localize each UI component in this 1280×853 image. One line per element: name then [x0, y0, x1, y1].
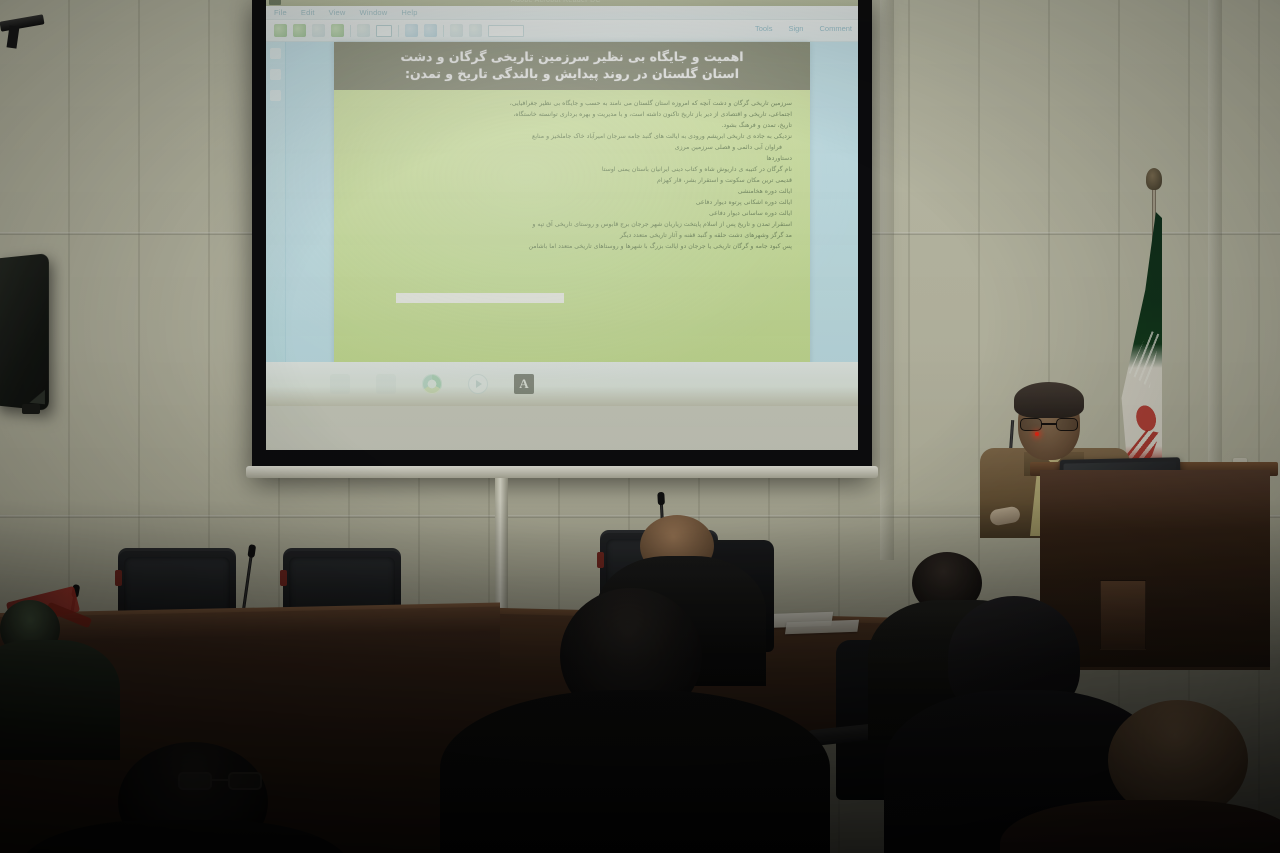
glasses-lens-right [228, 772, 262, 790]
acrobat-document-area[interactable]: اهمیت و جایگاه بی نظیر سرزمین تاریخی گرگ… [286, 42, 858, 406]
desktop-taskbar[interactable] [266, 362, 858, 406]
attachments-icon[interactable] [270, 90, 281, 101]
slide-body-line: فراوان آبی دائمی و فصلی سرزمین مرزی [348, 143, 792, 153]
slide-body-line: ایالت دوره هخامنشی [348, 187, 792, 197]
comment-button[interactable]: Comment [819, 24, 852, 33]
projection-screen-surface: Adobe Acrobat Reader DC File Edit View W… [266, 0, 858, 450]
acrobat-window[interactable]: Adobe Acrobat Reader DC File Edit View W… [266, 0, 858, 406]
audience-member-body [440, 690, 830, 853]
slide-body-line: اجتماعی، تاریخی و اقتصادی از دیر باز تار… [348, 110, 792, 120]
projection-screen-stand-pole [495, 478, 508, 618]
acrobat-body: اهمیت و جایگاه بی نظیر سرزمین تاریخی گرگ… [266, 42, 858, 406]
slide-body-line: ایالت دوره ساسانی دیوار دفاعی [348, 209, 792, 219]
menu-item-file[interactable]: File [274, 8, 287, 17]
slide-body-line: دستاوردها [348, 154, 792, 164]
toolbar-divider [350, 25, 351, 37]
print-icon[interactable] [357, 24, 370, 37]
toolbar-divider-2 [398, 25, 399, 37]
previous-page-icon[interactable] [405, 24, 418, 37]
start-button-icon[interactable] [330, 374, 350, 394]
slide-body-line: نزدیکی به جاده ی تاریخی ابریشم ورودی به … [348, 132, 792, 142]
acrobat-titlebar: Adobe Acrobat Reader DC [266, 0, 858, 6]
media-player-icon[interactable] [468, 374, 488, 394]
eyeglasses-icon [178, 772, 262, 790]
pdf-page: اهمیت و جایگاه بی نظیر سرزمین تاریخی گرگ… [334, 42, 810, 394]
acrobat-right-panel-buttons[interactable]: Tools Sign Comment [755, 24, 852, 33]
glasses-bridge [212, 779, 228, 781]
slide-body-line: قدیمی ترین مکان سکونت و استقرار بشر، قار… [348, 176, 792, 186]
acrobat-menubar[interactable]: File Edit View Window Help [266, 6, 858, 20]
chair-tab [597, 552, 604, 568]
create-pdf-icon[interactable] [293, 24, 306, 37]
slide-body-block: سرزمین تاریخی گرگان و دشت آنچه که امروزه… [334, 90, 810, 390]
audience-member-body [0, 640, 120, 760]
menu-item-window[interactable]: Window [360, 8, 388, 17]
chair-tab [115, 570, 122, 586]
slide-title-line-1: اهمیت و جایگاه بی نظیر سرزمین تاریخی گرگ… [350, 48, 794, 65]
explorer-icon[interactable] [376, 374, 396, 394]
menu-item-edit[interactable]: Edit [301, 8, 315, 17]
slide-body-line: سرزمین تاریخی گرگان و دشت آنچه که امروزه… [348, 99, 792, 109]
slide-title-line-2: استان گلستان در روند پیدایش و بالندگی تا… [350, 65, 794, 82]
presenter-hair [1014, 382, 1084, 418]
chrome-icon[interactable] [422, 374, 442, 394]
page-fit-icon[interactable] [376, 25, 392, 37]
next-page-icon[interactable] [424, 24, 437, 37]
sign-button[interactable]: Sign [788, 24, 803, 33]
glasses-bridge [1042, 423, 1056, 425]
acrobat-app-icon [269, 0, 281, 5]
podium-front-panel [1100, 580, 1146, 650]
page-thumbnails-icon[interactable] [270, 48, 281, 59]
slide-body-line: تاریخ، تمدن و فرهنگ بشود. [348, 121, 792, 131]
glasses-lens-right [1056, 418, 1078, 431]
eyeglasses-icon [1020, 418, 1078, 431]
zoom-level-field[interactable] [488, 25, 524, 37]
slide-body-line: ایالت دوره اشکانی پرتوه دیوار دفاعی [348, 198, 792, 208]
menu-item-view[interactable]: View [329, 8, 346, 17]
tools-button[interactable]: Tools [755, 24, 773, 33]
acrobat-toolbar[interactable]: Tools Sign Comment [266, 20, 858, 42]
glasses-lens-left [1020, 418, 1042, 431]
wall-speaker-mount [22, 404, 40, 414]
acrobat-window-title: Adobe Acrobat Reader DC [511, 0, 601, 4]
flag-finial-icon [1146, 168, 1162, 190]
slide-body-line: پس کبود جامه و گرگان تاریخی یا جرجان دو … [348, 242, 792, 252]
menu-item-help[interactable]: Help [401, 8, 417, 17]
zoom-in-icon[interactable] [469, 24, 482, 37]
bookmarks-icon[interactable] [270, 69, 281, 80]
adobe-acrobat-icon[interactable] [514, 374, 534, 394]
projection-screen-roller-bar [246, 466, 878, 478]
glasses-lens-left [178, 772, 212, 790]
text-selection-highlight [396, 293, 564, 303]
zoom-out-icon[interactable] [450, 24, 463, 37]
chair-tab [280, 570, 287, 586]
paper-sheet [785, 620, 859, 635]
slide-title-block: اهمیت و جایگاه بی نظیر سرزمین تاریخی گرگ… [334, 42, 810, 90]
microphone-led-indicator [1035, 432, 1039, 436]
email-icon[interactable] [331, 24, 344, 37]
save-icon[interactable] [312, 24, 325, 37]
conference-hall-scene: Adobe Acrobat Reader DC File Edit View W… [0, 0, 1280, 853]
wall-post-left [880, 0, 894, 560]
slide-body-line: استقرار تمدن و تاریخ پس از اسلام پایتخت … [348, 220, 792, 230]
slide-body-line: نام گرگان در کتیبه ی داریوش شاه و کتاب د… [348, 165, 792, 175]
wall-speaker [0, 253, 49, 411]
acrobat-navigation-sidebar[interactable] [266, 42, 286, 406]
projection-screen: Adobe Acrobat Reader DC File Edit View W… [252, 0, 872, 474]
open-file-icon[interactable] [274, 24, 287, 37]
slide-body-line: مد گرگز وشهرهای دشت حلقه و گنبد قفنه و آ… [348, 231, 792, 241]
toolbar-divider-3 [443, 25, 444, 37]
